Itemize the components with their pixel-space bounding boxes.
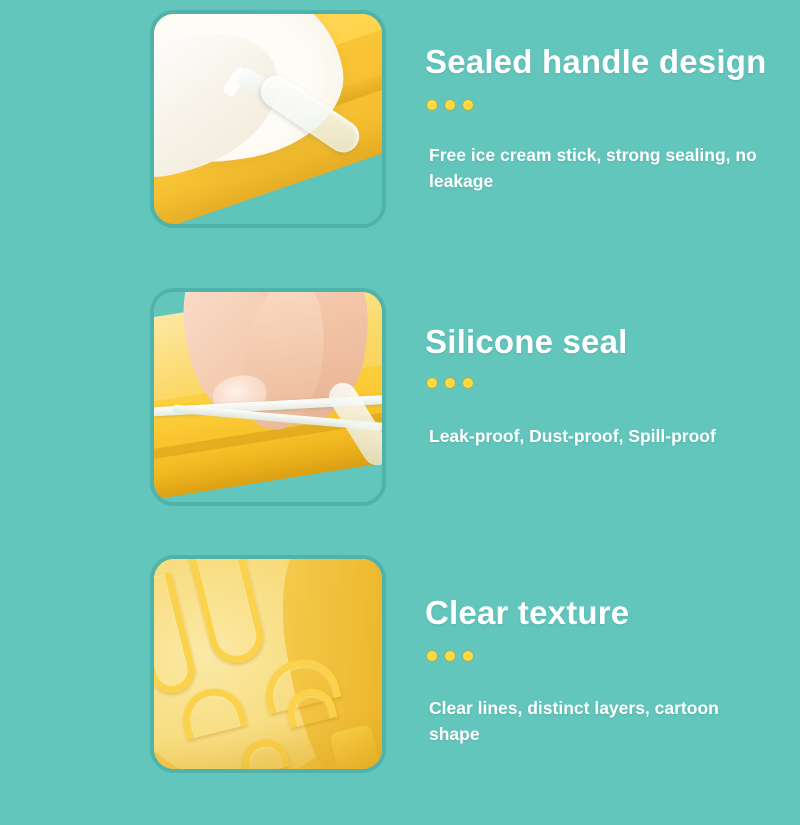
feature-row-silicone-seal: Silicone seal Leak-proof, Dust-proof, Sp…: [0, 278, 800, 558]
feature-description: Free ice cream stick, strong sealing, no…: [429, 142, 759, 195]
dot-icon: [445, 378, 455, 388]
feature-photo-silicone-seal: [150, 288, 386, 506]
photo-illustration-popsicle-mold-stick: [154, 14, 382, 224]
photo-illustration-hand-pulling-seal: [154, 292, 382, 502]
feature-row-sealed-handle-design: Sealed handle design Free ice cream stic…: [0, 0, 800, 280]
feature-description: Leak-proof, Dust-proof, Spill-proof: [429, 423, 769, 449]
dot-icon: [463, 651, 473, 661]
feature-description: Clear lines, distinct layers, cartoon sh…: [429, 695, 759, 748]
dot-icon: [445, 100, 455, 110]
feature-photo-clear-texture: [150, 555, 386, 773]
dot-icon: [427, 378, 437, 388]
divider-dots: [427, 378, 473, 388]
feature-photo-sealed-handle-design: [150, 10, 386, 228]
feature-row-clear-texture: Clear texture Clear lines, distinct laye…: [0, 545, 800, 825]
dot-icon: [445, 651, 455, 661]
divider-dots: [427, 100, 473, 110]
photo-illustration-mold-cavity-texture: [154, 559, 382, 769]
feature-title: Clear texture: [425, 595, 629, 631]
feature-title: Silicone seal: [425, 324, 628, 360]
dot-icon: [427, 100, 437, 110]
dot-icon: [427, 651, 437, 661]
feature-title: Sealed handle design: [425, 44, 766, 80]
product-feature-infographic: Sealed handle design Free ice cream stic…: [0, 0, 800, 800]
dot-icon: [463, 100, 473, 110]
dot-icon: [463, 378, 473, 388]
divider-dots: [427, 651, 473, 661]
